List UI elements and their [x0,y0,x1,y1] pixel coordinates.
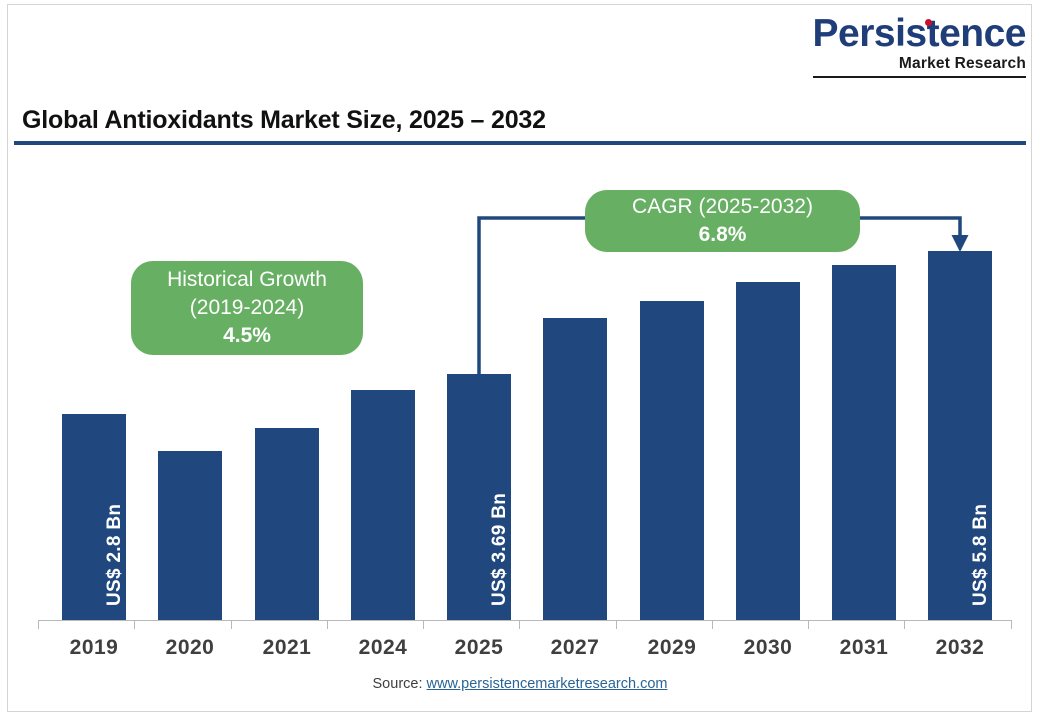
bar-value-label-2032: US$ 5.8 Bn [970,504,992,606]
cagr-callout-value: 6.8% [699,221,747,249]
cagr-callout-line1: CAGR (2025-2032) [632,193,813,221]
x-label-2025: 2025 [431,636,527,660]
bar-2027 [543,318,607,620]
historical-callout-value: 4.5% [223,322,271,350]
x-tick-3 [327,620,328,629]
x-label-2019: 2019 [46,636,142,660]
bar-chart-plot: US$ 2.8 BnUS$ 3.69 BnUS$ 5.8 Bn 20192020… [0,0,1040,720]
bar-2024 [351,390,415,620]
historical-callout-line2: (2019-2024) [190,294,304,322]
x-tick-5 [519,620,520,629]
x-tick-1 [134,620,135,629]
source-line: Source: www.persistencemarketresearch.co… [0,676,1040,692]
historical-growth-callout: Historical Growth (2019-2024) 4.5% [131,261,363,355]
x-label-2032: 2032 [912,636,1008,660]
bar-2031 [832,265,896,620]
bar-2029 [640,301,704,620]
x-label-2029: 2029 [624,636,720,660]
x-tick-end [1011,620,1012,629]
chart-page: Persistence Market Research Global Antio… [0,0,1040,720]
bar-value-label-2025: US$ 3.69 Bn [489,493,511,606]
x-label-2021: 2021 [239,636,335,660]
bar-2021 [255,428,319,620]
source-link[interactable]: www.persistencemarketresearch.com [427,676,668,692]
x-tick-9 [904,620,905,629]
bar-2020 [158,451,222,620]
x-label-2031: 2031 [816,636,912,660]
x-tick-7 [712,620,713,629]
x-tick-4 [423,620,424,629]
bar-value-label-2019: US$ 2.8 Bn [104,504,126,606]
x-label-2027: 2027 [527,636,623,660]
x-axis-line [38,620,1011,621]
historical-callout-line1: Historical Growth [167,266,327,294]
x-label-2030: 2030 [720,636,816,660]
bar-2030 [736,282,800,620]
x-tick-0 [38,620,39,629]
x-tick-2 [231,620,232,629]
x-label-2020: 2020 [142,636,238,660]
cagr-callout: CAGR (2025-2032) 6.8% [585,190,860,252]
x-tick-8 [808,620,809,629]
x-tick-6 [616,620,617,629]
x-label-2024: 2024 [335,636,431,660]
source-prefix: Source: [373,676,427,692]
